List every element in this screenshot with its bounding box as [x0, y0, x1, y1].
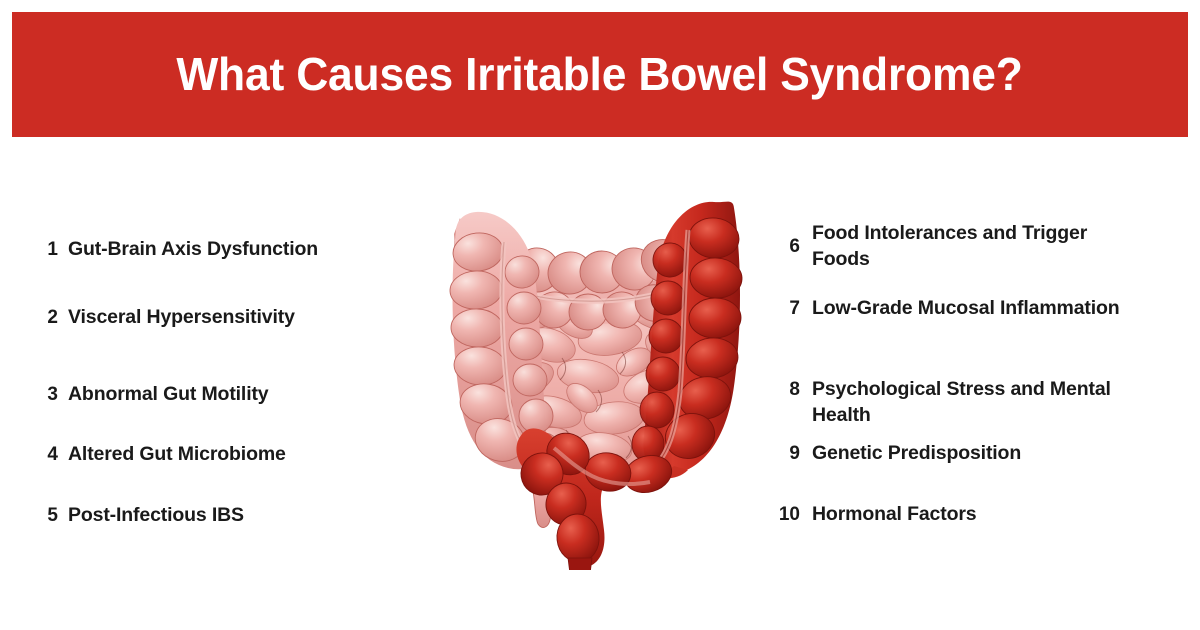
list-item-label: Visceral Hypersensitivity	[68, 305, 295, 331]
list-item: 5 Post-Infectious IBS	[28, 503, 428, 529]
list-item-number: 7	[765, 296, 800, 321]
list-item-number: 4	[28, 442, 58, 467]
list-item-number: 8	[765, 377, 800, 402]
list-item: 9 Genetic Predisposition	[765, 441, 1185, 467]
list-item: 6 Food Intolerances and Trigger Foods	[765, 219, 1185, 275]
list-item-label: Altered Gut Microbiome	[68, 442, 286, 468]
header-banner: What Causes Irritable Bowel Syndrome?	[12, 12, 1188, 137]
list-item-number: 9	[765, 441, 800, 466]
page-title: What Causes Irritable Bowel Syndrome?	[177, 50, 1023, 98]
list-item-number: 6	[765, 234, 800, 259]
list-item-number: 5	[28, 503, 58, 528]
list-item: 3 Abnormal Gut Motility	[28, 382, 428, 408]
list-item: 10 Hormonal Factors	[765, 502, 1185, 528]
infographic-canvas: What Causes Irritable Bowel Syndrome?	[0, 0, 1200, 630]
list-item-number: 3	[28, 382, 58, 407]
list-item-label: Low-Grade Mucosal Inflammation	[812, 296, 1120, 322]
list-item-label: Hormonal Factors	[812, 502, 976, 528]
list-item-label: Gut-Brain Axis Dysfunction	[68, 237, 318, 263]
list-item-label: Genetic Predisposition	[812, 441, 1021, 467]
list-item: 4 Altered Gut Microbiome	[28, 442, 428, 468]
list-item-label: Psychological Stress and Mental Health	[812, 377, 1157, 428]
list-item-number: 2	[28, 305, 58, 330]
list-item: 2 Visceral Hypersensitivity	[28, 305, 428, 331]
list-item-number: 1	[28, 237, 58, 262]
list-item-label: Food Intolerances and Trigger Foods	[812, 221, 1132, 272]
human-intestine-anatomy-illustration	[442, 190, 752, 570]
list-item-label: Abnormal Gut Motility	[68, 382, 269, 408]
list-item-label: Post-Infectious IBS	[68, 503, 244, 529]
list-item: 1 Gut-Brain Axis Dysfunction	[28, 237, 428, 263]
list-item-number: 10	[765, 502, 800, 527]
list-item: 7 Low-Grade Mucosal Inflammation	[765, 296, 1185, 322]
list-item: 8 Psychological Stress and Mental Health	[765, 377, 1185, 433]
